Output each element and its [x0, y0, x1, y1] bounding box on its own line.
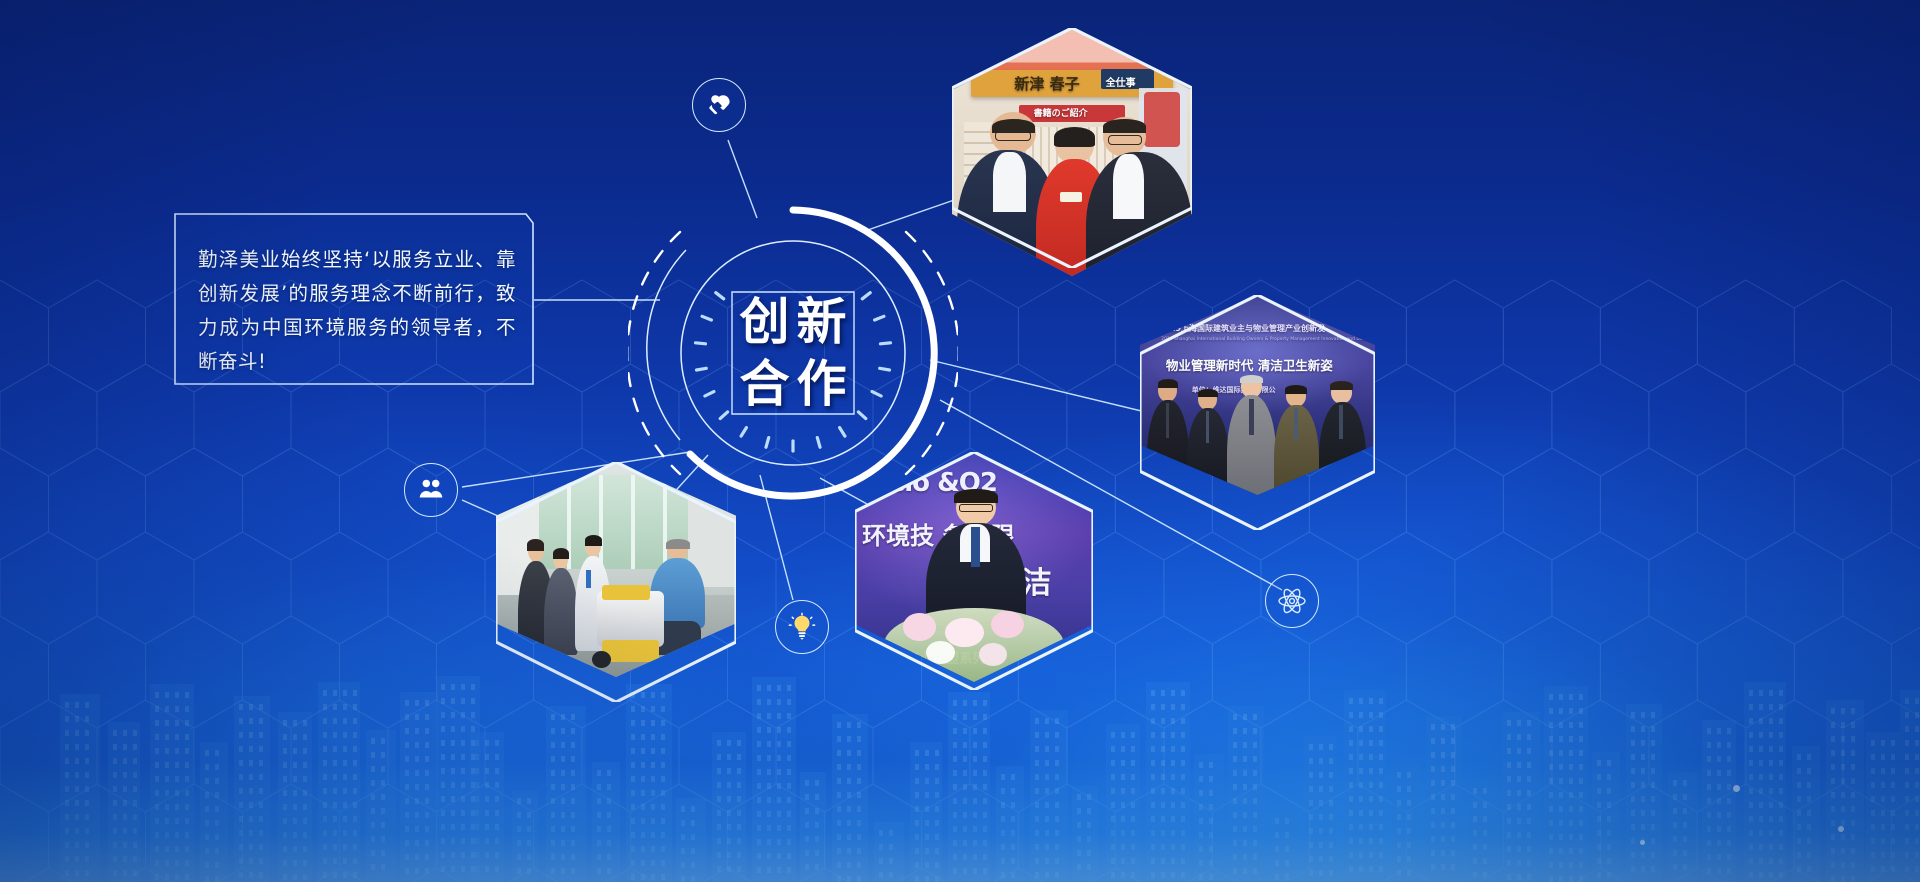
network-dot [1640, 840, 1645, 845]
photo-caption: 2019上海国际建筑业主与物业管理产业创新发 [1159, 323, 1325, 334]
quote-callout: 勤泽美业始终坚持‘以服务立业、靠创新发展’的服务理念不断前行，致力成为中国环境服… [174, 213, 534, 385]
handshake-heart-icon [704, 90, 734, 120]
photo-caption: 物业管理新时代 清洁卫生新姿 [1166, 355, 1333, 374]
photo-caption: 新津 春子 [1014, 73, 1079, 94]
people-group-icon-node[interactable] [404, 463, 458, 517]
photo-caption: 2019 Shanghai International Building Own… [1161, 337, 1375, 342]
poster-stage: 勤泽美业始终坚持‘以服务立业、靠创新发展’的服务理念不断前行，致力成为中国环境服… [0, 0, 1920, 882]
people-group-icon [416, 475, 446, 505]
handshake-heart-icon-node[interactable] [692, 78, 746, 132]
hexagon-photo-cleaning-machine-demo[interactable] [496, 462, 736, 677]
atom-technology-icon-node[interactable] [1265, 574, 1319, 628]
center-title-line2: 合作 [733, 354, 854, 414]
atom-technology-icon [1276, 585, 1308, 617]
hexagon-photo-store-visit[interactable]: 新津 春子 全仕事 書籍のご紹介 [952, 28, 1192, 276]
quote-text: 勤泽美业始终坚持‘以服务立业、靠创新发展’的服务理念不断前行，致力成为中国环境服… [198, 243, 516, 379]
network-dot [1733, 785, 1740, 792]
photo-caption: 書籍のご紹介 [1034, 106, 1088, 119]
hexagon-photo-conference-2019[interactable]: 2019上海国际建筑业主与物业管理产业创新发 2019 Shanghai Int… [1140, 295, 1375, 495]
lightbulb-idea-icon [787, 612, 817, 642]
lightbulb-idea-icon-node[interactable] [775, 600, 829, 654]
photo-caption: 全仕事 [1106, 74, 1136, 89]
network-dot [1838, 826, 1844, 832]
center-title-line1: 创新 [733, 292, 854, 352]
hexagon-photo-speaker-podium[interactable]: e-Clo &Q2 环境技 务有限 洁 务业联盟系列活 [855, 452, 1093, 682]
